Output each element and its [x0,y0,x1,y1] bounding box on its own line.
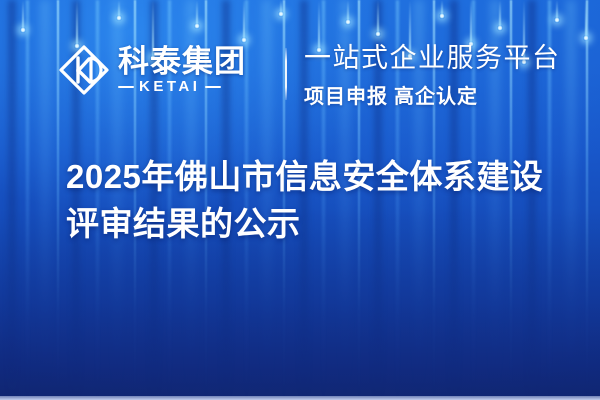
ketai-diamond-monogram-icon [58,44,110,96]
brand-name-en-row: KETAI [118,79,246,94]
brand-name-cn: 科泰集团 [118,46,246,78]
brand-logo[interactable]: 科泰集团 KETAI [58,44,246,96]
brand-slogan: 一站式企业服务平台 项目申报 高企认定 [304,42,561,109]
slogan-primary: 一站式企业服务平台 [304,42,561,75]
bottom-edge-line [0,396,600,400]
dash-left-icon [118,86,134,88]
banner-header: 科泰集团 KETAI 一站式企业服务平台 项目申报 高企认定 [0,0,600,140]
brand-name-en: KETAI [139,79,200,94]
header-divider [285,48,287,100]
dash-right-icon [205,86,221,88]
announcement-title: 2025年佛山市信息安全体系建设评审结果的公示 [66,154,576,248]
slogan-secondary: 项目申报 高企认定 [304,80,561,109]
announcement-banner: 科泰集团 KETAI 一站式企业服务平台 项目申报 高企认定 2025年佛山市信… [0,0,600,400]
